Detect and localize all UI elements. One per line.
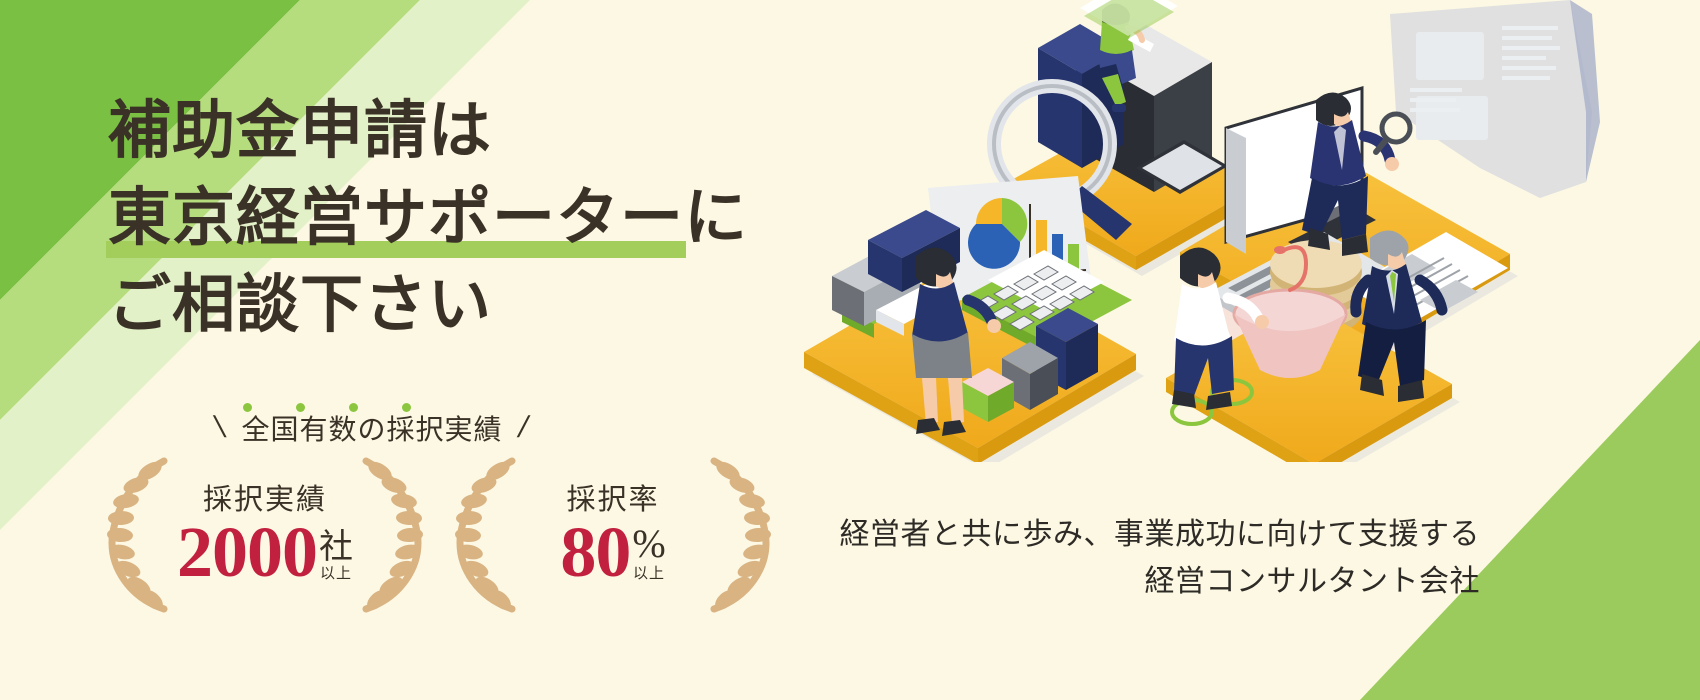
headline-line-2-tail: に <box>684 183 748 253</box>
slash-right-icon: / <box>514 411 532 445</box>
slash-left-icon: \ <box>212 411 230 445</box>
award-badge-group: 採択実績 2000 社 以上 <box>100 455 778 615</box>
headline-line-1: 補助金申請は <box>108 88 748 175</box>
sub-caption-text: 全国有数の採択実績 <box>241 408 502 448</box>
award-badge-number: 80 <box>560 519 630 585</box>
headline-line-2: 東京経営サポーターに <box>108 175 748 262</box>
award-badge-content: 採択率 80 % 以上 <box>506 485 721 585</box>
left-content-column: 補助金申請は 東京経営サポーターに ご相談下さい \ 全国有数の採択実績 / <box>0 0 830 700</box>
award-badge-unit-group: 社 以上 <box>319 530 353 585</box>
laurel-right-icon <box>708 455 772 615</box>
hero-banner: 補助金申請は 東京経営サポーターに ご相談下さい \ 全国有数の採択実績 / <box>0 0 1700 700</box>
award-badge-number: 2000 <box>177 519 317 585</box>
tagline-line-2: 経営コンサルタント会社 <box>840 559 1481 606</box>
curved-display-panel <box>1390 0 1600 198</box>
page-title: 補助金申請は 東京経営サポーターに ご相談下さい <box>108 88 748 349</box>
award-badge-unit: % <box>632 524 665 564</box>
award-badge-unit: 社 <box>319 530 353 564</box>
award-badge: 採択実績 2000 社 以上 <box>100 455 430 615</box>
award-badge-unit-group: % 以上 <box>632 524 665 585</box>
tagline: 経営者と共に歩み、事業成功に向けて支援する 経営コンサルタント会社 <box>840 512 1481 605</box>
laurel-right-icon <box>360 455 424 615</box>
headline-line-3: ご相談下さい <box>108 262 748 349</box>
award-badge-value-row: 80 % 以上 <box>506 519 721 585</box>
award-badge: 採択率 80 % 以上 <box>448 455 778 615</box>
award-badge-value-row: 2000 社 以上 <box>158 519 373 585</box>
award-badge-suffix: 以上 <box>633 565 665 583</box>
award-badge-suffix: 以上 <box>320 565 352 583</box>
sub-caption: \ 全国有数の採択実績 / <box>112 408 632 448</box>
tagline-line-1: 経営者と共に歩み、事業成功に向けて支援する <box>840 512 1481 559</box>
headline-highlight: 東京経営サポーター <box>108 175 684 262</box>
illustration-isometric-business-scene <box>780 0 1700 462</box>
award-badge-content: 採択実績 2000 社 以上 <box>158 485 373 585</box>
